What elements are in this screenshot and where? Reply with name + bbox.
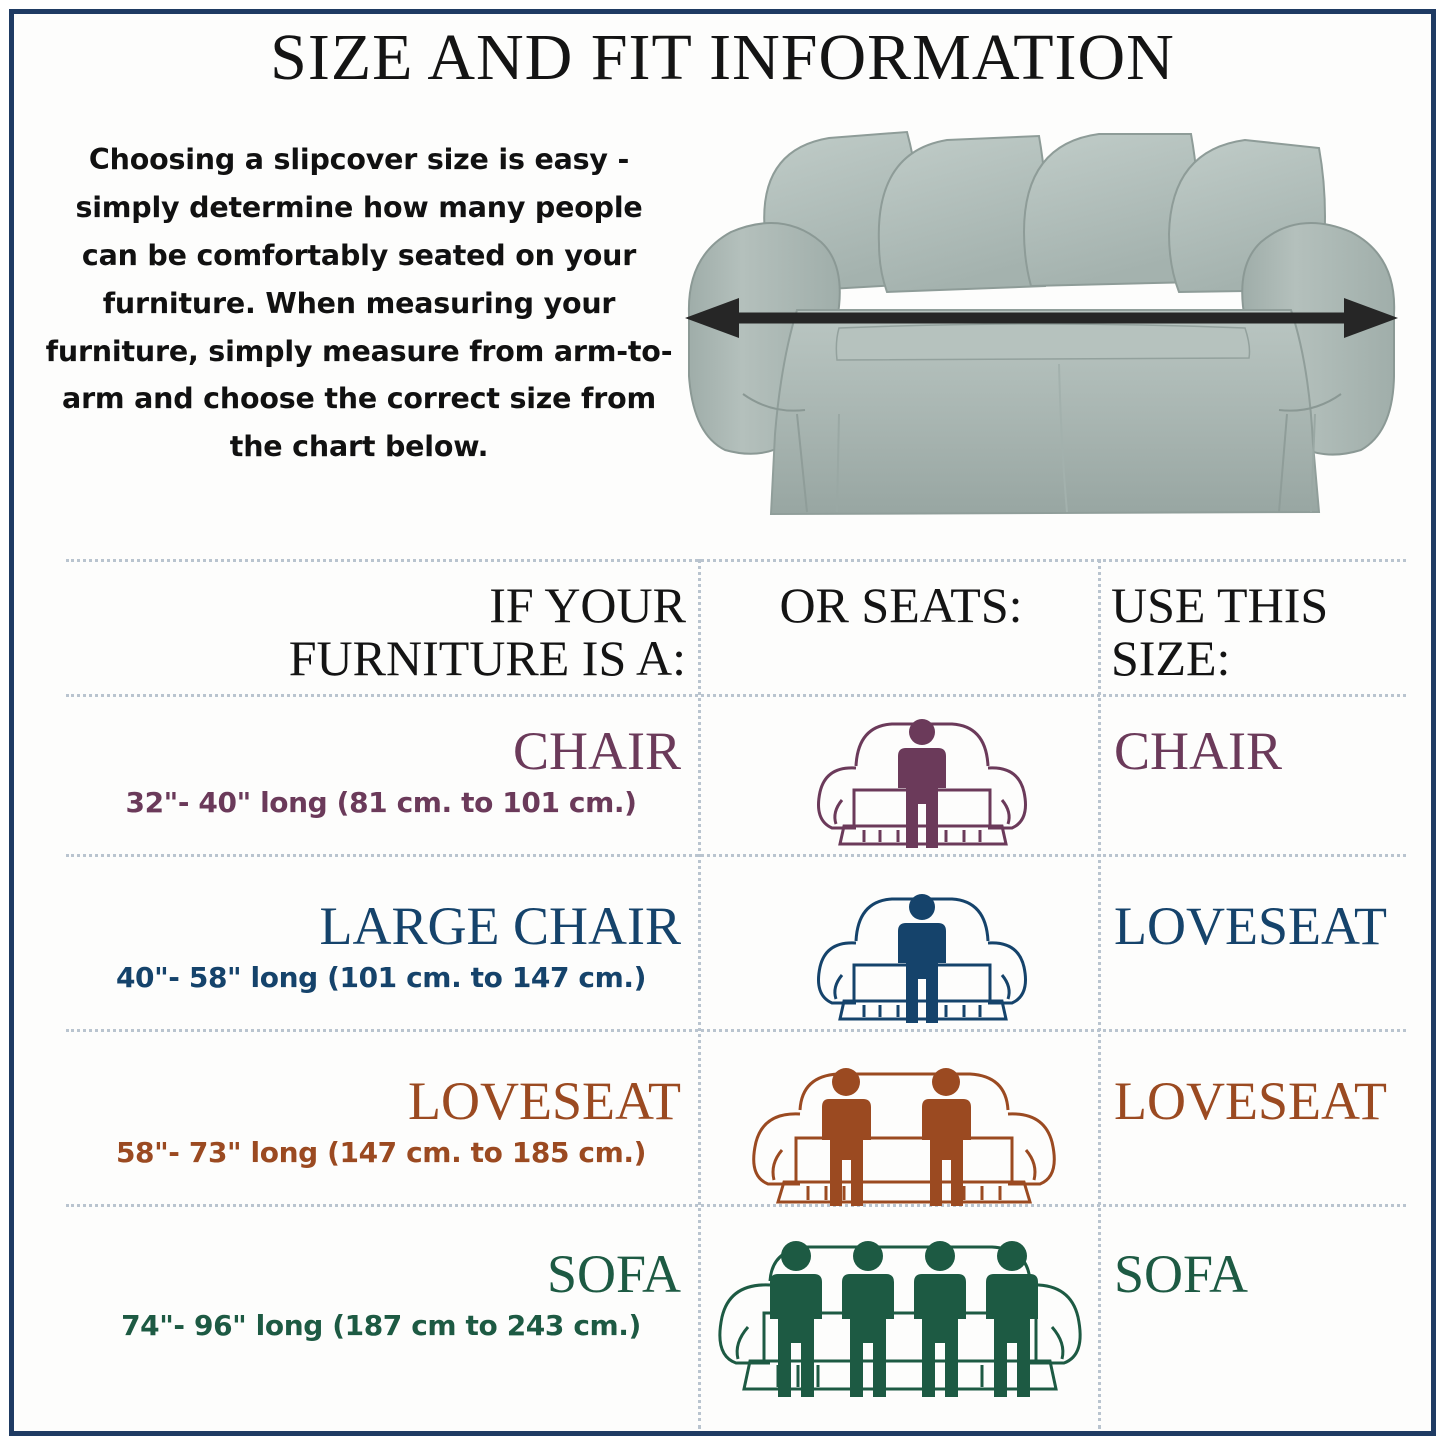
person-figure-2 bbox=[922, 1068, 971, 1206]
row-use-size: LOVESEAT bbox=[1114, 1074, 1387, 1128]
row-use-size: CHAIR bbox=[1114, 724, 1282, 778]
sofa-illustration bbox=[679, 114, 1404, 524]
person-figure-4 bbox=[986, 1241, 1038, 1397]
slipcovered-sofa-photo bbox=[679, 114, 1404, 524]
row-furniture-name: SOFA bbox=[547, 1247, 681, 1301]
row-furniture-name: CHAIR bbox=[513, 724, 681, 778]
page-title: SIZE AND FIT INFORMATION bbox=[14, 20, 1431, 96]
loveseat-with-2-persons-icon bbox=[738, 1066, 1068, 1206]
large-chair-with-1-person-icon bbox=[806, 891, 1036, 1023]
person-figure bbox=[898, 719, 946, 848]
row-dimensions: 58"- 73" long (147 cm. to 185 cm.) bbox=[66, 1136, 696, 1169]
person-figure-3 bbox=[914, 1241, 966, 1397]
header-seats: OR SEATS: bbox=[706, 579, 1096, 632]
header-size-line1: USE THIS bbox=[1111, 579, 1406, 632]
divider-row-2 bbox=[66, 1029, 1406, 1032]
infographic-root: SIZE AND FIT INFORMATION Choosing a slip… bbox=[0, 0, 1445, 1445]
row-dimensions: 74"- 96" long (187 cm to 243 cm.) bbox=[66, 1309, 696, 1342]
row-furniture-name: LARGE CHAIR bbox=[320, 899, 682, 953]
header-furniture-line1: IF YOUR bbox=[66, 579, 686, 632]
header-furniture: IF YOUR FURNITURE IS A: bbox=[66, 579, 686, 685]
header-use-size: USE THIS SIZE: bbox=[1111, 579, 1406, 685]
divider-row-3 bbox=[66, 1204, 1406, 1207]
person-figure-2 bbox=[842, 1241, 894, 1397]
divider-top bbox=[66, 559, 1406, 562]
header-furniture-line2: FURNITURE IS A: bbox=[66, 632, 686, 685]
chair-with-1-person-icon bbox=[806, 716, 1036, 848]
intro-paragraph: Choosing a slipcover size is easy - simp… bbox=[44, 136, 674, 471]
person-figure bbox=[898, 894, 946, 1023]
row-use-size: SOFA bbox=[1114, 1247, 1248, 1301]
row-dimensions: 32"- 40" long (81 cm. to 101 cm.) bbox=[66, 786, 696, 819]
row-furniture-name: LOVESEAT bbox=[408, 1074, 681, 1128]
bordered-frame: SIZE AND FIT INFORMATION Choosing a slip… bbox=[9, 9, 1436, 1436]
row-dimensions: 40"- 58" long (101 cm. to 147 cm.) bbox=[66, 961, 696, 994]
size-chart-table: IF YOUR FURNITURE IS A: OR SEATS: USE TH… bbox=[66, 559, 1406, 1429]
sofa-with-4-persons-icon bbox=[700, 1239, 1100, 1399]
person-figure-1 bbox=[822, 1068, 871, 1206]
divider-header bbox=[66, 694, 1406, 697]
header-size-line2: SIZE: bbox=[1111, 632, 1406, 685]
row-use-size: LOVESEAT bbox=[1114, 899, 1387, 953]
divider-row-1 bbox=[66, 854, 1406, 857]
